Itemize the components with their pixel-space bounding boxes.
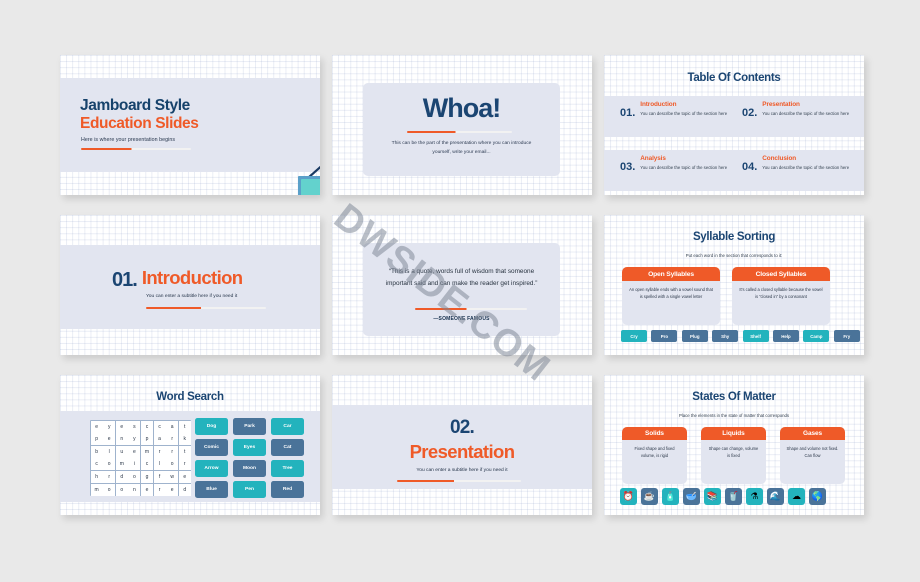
section-heading: Presentation bbox=[332, 441, 592, 463]
quote-text: “This is a quote, words full of wisdom t… bbox=[379, 266, 544, 290]
letter-cell[interactable]: e bbox=[166, 484, 178, 496]
letter-cell[interactable]: c bbox=[141, 458, 153, 470]
toc-heading: Presentation bbox=[762, 101, 849, 108]
letter-cell[interactable]: a bbox=[166, 421, 178, 433]
word-search-grid[interactable]: eyesccatpenyparkbluemrrtcomiclorhrdogfwe… bbox=[90, 420, 191, 496]
slides-grid: Jamboard Style Education Slides Here is … bbox=[60, 55, 865, 522]
letter-cell[interactable]: c bbox=[154, 421, 166, 433]
toc-item-3[interactable]: 03. Analysis You can describe the topic … bbox=[620, 155, 727, 173]
accent-rule bbox=[397, 480, 521, 482]
toc-heading: Conclusion bbox=[762, 155, 849, 162]
toc-number: 04. bbox=[742, 161, 757, 173]
slide-whoa[interactable]: Whoa! This can be the part of the presen… bbox=[332, 55, 592, 195]
word-list: DogParkCarComicEyesCatArrowMoonTreeBlueP… bbox=[195, 418, 304, 498]
whoa-body-text: This can be the part of the presentation… bbox=[389, 139, 534, 157]
letter-cell[interactable]: o bbox=[166, 458, 178, 470]
letter-cell[interactable]: p bbox=[91, 433, 103, 445]
toc-description: You can describe the topic of the sectio… bbox=[640, 110, 727, 117]
letter-cell[interactable]: o bbox=[116, 484, 128, 496]
word-tile[interactable]: Cat bbox=[271, 439, 304, 456]
quote-card: “This is a quote, words full of wisdom t… bbox=[363, 243, 560, 336]
word-tile[interactable]: Eyes bbox=[233, 439, 266, 456]
section-number: 01. bbox=[112, 269, 137, 292]
word-tile[interactable]: Dog bbox=[195, 418, 228, 435]
letter-cell[interactable]: c bbox=[91, 458, 103, 470]
letter-cell[interactable]: t bbox=[179, 421, 191, 433]
syllable-card-closed[interactable]: Closed Syllables It's called a closed sy… bbox=[732, 267, 830, 325]
books-stack-icon[interactable]: 📚 bbox=[704, 488, 721, 505]
letter-cell[interactable]: y bbox=[128, 433, 140, 445]
letter-cell[interactable]: e bbox=[91, 421, 103, 433]
word-tile[interactable]: Car bbox=[271, 418, 304, 435]
section-number: 02. bbox=[332, 417, 592, 439]
state-card-solids[interactable]: Solids Fixed shape and fixed volume, is … bbox=[622, 427, 687, 484]
syllable-word-chips: Cry Pro Plug Shy Shelf Help Camp Fry bbox=[621, 330, 860, 342]
toc-number: 02. bbox=[742, 107, 757, 119]
syllable-card-open[interactable]: Open Syllables An open syllable ends wit… bbox=[622, 267, 720, 325]
letter-cell[interactable]: e bbox=[103, 433, 115, 445]
card-heading: Solids bbox=[622, 427, 687, 440]
letter-cell[interactable]: r bbox=[166, 433, 178, 445]
word-chip[interactable]: Plug bbox=[682, 330, 708, 342]
accent-rule bbox=[407, 131, 512, 133]
letter-cell[interactable]: r bbox=[179, 458, 191, 470]
letter-cell[interactable]: u bbox=[116, 446, 128, 458]
slide-section-introduction[interactable]: 01. Introduction You can enter a subtitl… bbox=[60, 215, 320, 355]
word-chip[interactable]: Camp bbox=[803, 330, 829, 342]
letter-cell[interactable]: m bbox=[141, 446, 153, 458]
word-chip[interactable]: Cry bbox=[621, 330, 647, 342]
letter-cell[interactable]: l bbox=[103, 446, 115, 458]
card-description: An open syllable ends with a vowel sound… bbox=[622, 281, 720, 301]
card-description: It's called a closed syllable because th… bbox=[732, 281, 830, 301]
cloud-icon[interactable]: ☁ bbox=[788, 488, 805, 505]
letter-cell[interactable]: b bbox=[91, 446, 103, 458]
toc-heading: Analysis bbox=[640, 155, 727, 162]
letter-cell[interactable]: n bbox=[116, 433, 128, 445]
slide-title[interactable]: Jamboard Style Education Slides Here is … bbox=[60, 55, 320, 195]
word-chip[interactable]: Help bbox=[773, 330, 799, 342]
globe-icon[interactable]: 🌎 bbox=[809, 488, 826, 505]
title-line-1: Jamboard Style bbox=[80, 97, 190, 114]
toc-description: You can describe the topic of the sectio… bbox=[762, 164, 849, 171]
card-heading: Gases bbox=[780, 427, 845, 440]
letter-cell[interactable]: l bbox=[154, 458, 166, 470]
letter-cell[interactable]: s bbox=[128, 421, 140, 433]
word-chip[interactable]: Pro bbox=[651, 330, 677, 342]
title-subtitle: Here is where your presentation begins bbox=[81, 137, 175, 143]
slide-section-presentation[interactable]: 02. Presentation You can enter a subtitl… bbox=[332, 375, 592, 515]
jamboard-whiteboard-icon bbox=[290, 156, 320, 195]
word-chip[interactable]: Shelf bbox=[743, 330, 769, 342]
word-tile[interactable]: Blue bbox=[195, 481, 228, 498]
title-line-2: Education Slides bbox=[80, 115, 199, 133]
slide-syllable-sorting[interactable]: Syllable Sorting Put each word in the se… bbox=[604, 215, 864, 355]
page-title: Jamboard Style Education Slides bbox=[80, 97, 199, 134]
accent-rule bbox=[146, 307, 266, 309]
whoa-card: Whoa! This can be the part of the presen… bbox=[363, 83, 560, 176]
word-tile[interactable]: Arrow bbox=[195, 460, 228, 477]
toc-item-1[interactable]: 01. Introduction You can describe the to… bbox=[620, 101, 727, 119]
section-subtitle: You can enter a subtitle here if you nee… bbox=[146, 294, 237, 299]
page-title: States Of Matter bbox=[604, 391, 864, 403]
letter-cell[interactable]: h bbox=[91, 471, 103, 483]
can-icon[interactable]: 🥤 bbox=[725, 488, 742, 505]
letter-cell[interactable]: i bbox=[128, 458, 140, 470]
bottle-icon[interactable]: 🧴 bbox=[662, 488, 679, 505]
bowl-icon[interactable]: 🥣 bbox=[683, 488, 700, 505]
slide-word-search[interactable]: Word Search eyesccatpenyparkbluemrrtcomi… bbox=[60, 375, 320, 515]
page-subtitle: Place the elements in the state of matte… bbox=[604, 413, 864, 418]
word-tile[interactable]: Tree bbox=[271, 460, 304, 477]
accent-rule bbox=[81, 148, 191, 150]
letter-cell[interactable]: e bbox=[128, 446, 140, 458]
card-description: Shape and volume not fixed. Can flow bbox=[780, 440, 845, 460]
whoa-heading: Whoa! bbox=[363, 93, 560, 124]
quote-author: —SOMEONE FAMOUS bbox=[363, 316, 560, 322]
letter-cell[interactable]: d bbox=[116, 471, 128, 483]
slide-table-of-contents[interactable]: Table Of Contents 01. Introduction You c… bbox=[604, 55, 864, 195]
section-header: 01. Introduction bbox=[112, 269, 243, 292]
letter-cell[interactable]: f bbox=[154, 471, 166, 483]
cup-icon[interactable]: ☕ bbox=[641, 488, 658, 505]
slide-quote[interactable]: “This is a quote, words full of wisdom t… bbox=[332, 215, 592, 355]
letter-cell[interactable]: o bbox=[128, 471, 140, 483]
letter-cell[interactable]: c bbox=[141, 421, 153, 433]
card-heading: Closed Syllables bbox=[732, 267, 830, 281]
letter-cell[interactable]: e bbox=[116, 421, 128, 433]
letter-cell[interactable]: y bbox=[103, 421, 115, 433]
letter-cell[interactable]: p bbox=[141, 433, 153, 445]
state-card-liquids[interactable]: Liquids Shape can change, volume is fixe… bbox=[701, 427, 766, 484]
letter-cell[interactable]: w bbox=[166, 471, 178, 483]
letter-cell[interactable]: e bbox=[179, 471, 191, 483]
card-heading: Liquids bbox=[701, 427, 766, 440]
card-description: Fixed shape and fixed volume, is rigid bbox=[622, 440, 687, 460]
letter-cell[interactable]: r bbox=[103, 471, 115, 483]
matter-icon-row: ⏰☕🧴🥣📚🥤⚗🌊☁🌎 bbox=[620, 488, 826, 505]
letter-cell[interactable]: a bbox=[154, 433, 166, 445]
state-card-gases[interactable]: Gases Shape and volume not fixed. Can fl… bbox=[780, 427, 845, 484]
word-tile[interactable]: Park bbox=[233, 418, 266, 435]
page-title: Table Of Contents bbox=[604, 72, 864, 84]
letter-cell[interactable]: d bbox=[179, 484, 191, 496]
letter-cell[interactable]: r bbox=[166, 446, 178, 458]
toc-description: You can describe the topic of the sectio… bbox=[640, 164, 727, 171]
letter-cell[interactable]: t bbox=[179, 446, 191, 458]
toc-number: 03. bbox=[620, 161, 635, 173]
word-tile[interactable]: Red bbox=[271, 481, 304, 498]
page-title: Word Search bbox=[60, 391, 320, 403]
page-title: Syllable Sorting bbox=[604, 231, 864, 243]
wave-icon[interactable]: 🌊 bbox=[767, 488, 784, 505]
flask-icon[interactable]: ⚗ bbox=[746, 488, 763, 505]
word-chip[interactable]: Fry bbox=[834, 330, 860, 342]
slide-states-of-matter[interactable]: States Of Matter Place the elements in t… bbox=[604, 375, 864, 515]
letter-cell[interactable]: g bbox=[141, 471, 153, 483]
toc-item-2[interactable]: 02. Presentation You can describe the to… bbox=[742, 101, 849, 119]
alarm-clock-icon[interactable]: ⏰ bbox=[620, 488, 637, 505]
section-subtitle: You can enter a subtitle here if you nee… bbox=[332, 468, 592, 473]
letter-cell[interactable]: r bbox=[154, 484, 166, 496]
section-heading: Introduction bbox=[142, 269, 243, 288]
letter-cell[interactable]: o bbox=[103, 458, 115, 470]
toc-description: You can describe the topic of the sectio… bbox=[762, 110, 849, 117]
toc-heading: Introduction bbox=[640, 101, 727, 108]
word-tile[interactable]: Moon bbox=[233, 460, 266, 477]
letter-cell[interactable]: n bbox=[128, 484, 140, 496]
accent-rule bbox=[415, 308, 527, 310]
letter-cell[interactable]: r bbox=[154, 446, 166, 458]
toc-item-4[interactable]: 04. Conclusion You can describe the topi… bbox=[742, 155, 849, 173]
letter-cell[interactable]: m bbox=[116, 458, 128, 470]
word-chip[interactable]: Shy bbox=[712, 330, 738, 342]
letter-cell[interactable]: o bbox=[103, 484, 115, 496]
letter-cell[interactable]: m bbox=[91, 484, 103, 496]
toc-number: 01. bbox=[620, 107, 635, 119]
word-tile[interactable]: Comic bbox=[195, 439, 228, 456]
slide-deck-preview: Jamboard Style Education Slides Here is … bbox=[0, 0, 920, 582]
card-description: Shape can change, volume is fixed bbox=[701, 440, 766, 460]
word-tile[interactable]: Pen bbox=[233, 481, 266, 498]
page-subtitle: Put each word in the section that corres… bbox=[604, 253, 864, 258]
letter-cell[interactable]: k bbox=[179, 433, 191, 445]
card-heading: Open Syllables bbox=[622, 267, 720, 281]
letter-cell[interactable]: e bbox=[141, 484, 153, 496]
